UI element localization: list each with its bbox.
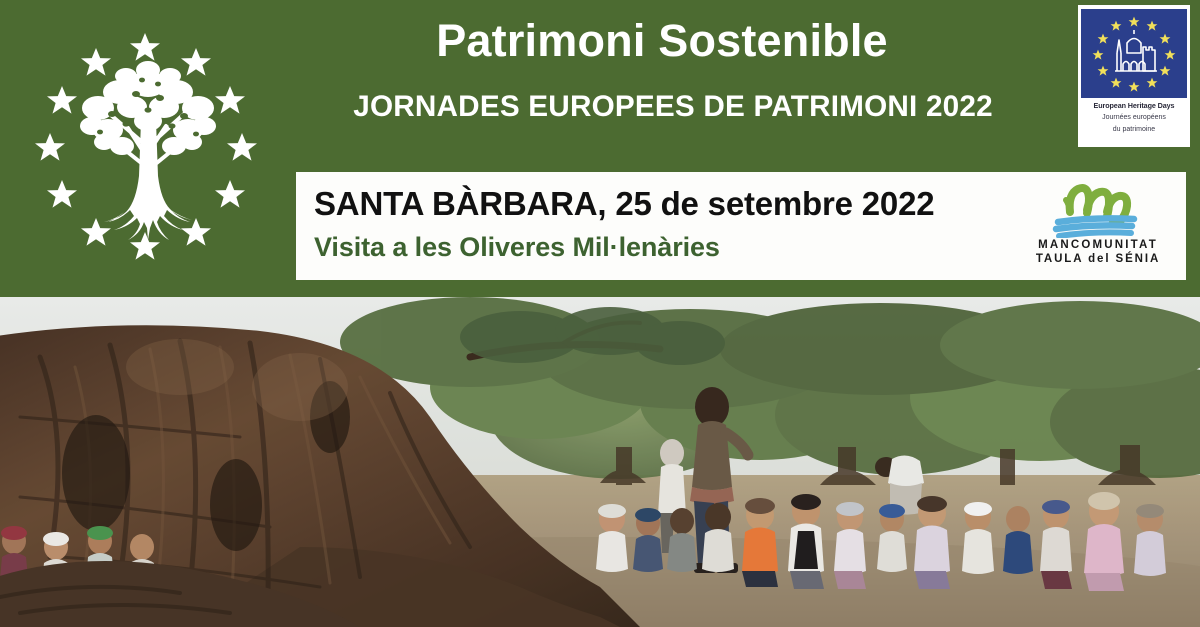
event-info-panel: SANTA BÀRBARA, 25 de setembre 2022 Visit… [296, 172, 1186, 280]
olive-tree-stars-emblem [8, 6, 298, 291]
eu-stars-monument-icon [1081, 9, 1187, 98]
ehd-caption-en: European Heritage Days [1081, 101, 1187, 110]
ehd-caption: European Heritage Days Journées européen… [1081, 101, 1187, 134]
event-photo [0, 297, 1200, 627]
olive-grove-scene [0, 297, 1200, 627]
ehd-caption-fr-2: du patrimoine [1081, 125, 1187, 134]
headline-block: Patrimoni Sostenible JORNADES EUROPEES D… [296, 18, 1056, 122]
event-city-date: SANTA BÀRBARA, 25 de setembre 2022 [314, 185, 934, 223]
mancomunitat-line-2: TAULA del SÉNIA [1018, 253, 1178, 267]
header-band: Patrimoni Sostenible JORNADES EUROPEES D… [0, 0, 1200, 297]
poster-subtitle: JORNADES EUROPEES DE PATRIMONI 2022 [300, 92, 1052, 122]
european-heritage-days-badge: European Heritage Days Journées européen… [1078, 5, 1190, 147]
mancomunitat-m-waves-icon [1018, 176, 1178, 238]
event-poster: Patrimoni Sostenible JORNADES EUROPEES D… [0, 0, 1200, 627]
event-activity: Visita a les Oliveres Mil·lenàries [314, 232, 720, 263]
mancomunitat-wordmark: MANCOMUNITAT TAULA del SÉNIA [1018, 239, 1178, 266]
poster-title: Patrimoni Sostenible [296, 18, 1056, 63]
ehd-caption-fr-1: Journées européens [1081, 113, 1187, 122]
mancomunitat-logo: MANCOMUNITAT TAULA del SÉNIA [1018, 176, 1178, 276]
mancomunitat-line-1: MANCOMUNITAT [1018, 239, 1178, 253]
